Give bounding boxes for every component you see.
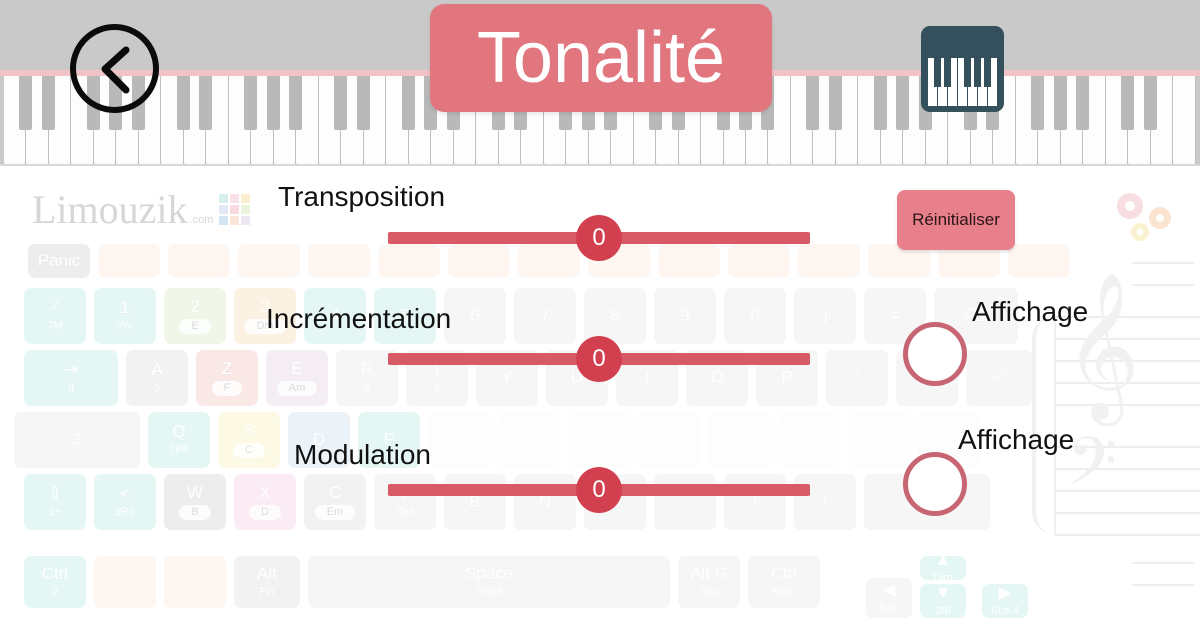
staff-line: [1055, 338, 1200, 340]
keyboard-key[interactable]: L: [708, 412, 770, 468]
keyboard-key-sublabel: 7P5: [169, 444, 189, 457]
piano-icon-black-key: [984, 58, 991, 87]
keyboard-key[interactable]: ^: [826, 350, 888, 406]
modulation-slider[interactable]: 0: [388, 467, 810, 513]
keyboard-key-label: 0: [750, 307, 759, 325]
logo-tile: [219, 194, 228, 203]
piano-black-key[interactable]: [829, 72, 842, 130]
keyboard-key-label: !: [823, 493, 828, 511]
keyboard-key-label: R: [361, 361, 373, 379]
page-title: Tonalité: [430, 4, 772, 112]
keyboard-key-label: ▶: [998, 584, 1011, 602]
piano-black-key[interactable]: [402, 72, 415, 130]
keyboard-key-label: E: [291, 360, 302, 378]
staff-line: [1055, 382, 1200, 384]
piano-white-key[interactable]: [161, 72, 183, 164]
piano-black-key[interactable]: [1121, 72, 1134, 130]
keyboard-key-label: 2: [190, 298, 199, 316]
keyboard-key[interactable]: Ctrl8va--: [748, 556, 820, 608]
keyboard-key-label: J: [595, 431, 604, 449]
keyboard-key-label: H: [523, 431, 535, 449]
piano-black-key[interactable]: [1076, 72, 1089, 130]
piano-black-key[interactable]: [289, 72, 302, 130]
keyboard-key[interactable]: [308, 244, 370, 278]
staff-line: [1055, 490, 1200, 492]
piano-black-key[interactable]: [806, 72, 819, 130]
piano-icon-black-key: [934, 58, 941, 87]
keyboard-key-label: ⇧: [48, 485, 62, 503]
keyboard-key[interactable]: Q7P5: [148, 412, 210, 468]
arrow-key-cluster: ◀8va-▲Dim▼3/6▶Sus 4: [866, 556, 1036, 618]
keyboard-key-sublabel: Am: [277, 381, 318, 396]
logo-tile: [241, 194, 250, 203]
keyboard-key-label: C: [329, 484, 341, 502]
keyboard-key-sublabel: B: [179, 505, 210, 520]
piano-white-key[interactable]: [1016, 72, 1038, 164]
keyboard-key-sublabel: It: [68, 382, 74, 395]
piano-black-key[interactable]: [19, 72, 32, 130]
piano-black-key[interactable]: [244, 72, 257, 130]
piano-black-key[interactable]: [874, 72, 887, 130]
keyboard-key[interactable]: ◀8va-: [866, 578, 912, 618]
staff-line: [1055, 446, 1200, 448]
logo-tile: [230, 205, 239, 214]
keyboard-key[interactable]: SpaceTriad: [308, 556, 670, 608]
piano-white-key[interactable]: [4, 72, 26, 164]
logo-tile: [230, 216, 239, 225]
keyboard-key[interactable]: [98, 244, 160, 278]
piano-black-key[interactable]: [177, 72, 190, 130]
logo-tile: [241, 205, 250, 214]
keyboard-key[interactable]: J: [568, 412, 630, 468]
keyboard-key-label: Alt G: [690, 565, 728, 583]
keyboard-key-label: 7: [540, 307, 549, 325]
keyboard-key-sublabel: 5: [154, 382, 160, 395]
gears-decoration: [1108, 186, 1182, 248]
keyboard-key-label: ▼: [935, 584, 952, 602]
keyboard-row: Ctrl2AltFinSpaceTriadAlt G8vaCtrl8va--: [24, 556, 828, 608]
piano-black-key[interactable]: [334, 72, 347, 130]
logo-tile: [241, 216, 250, 225]
keyboard-key-sublabel: 7m: [117, 320, 132, 333]
keyboard-key-label: M: [802, 431, 816, 449]
keyboard-key[interactable]: ⏎: [966, 350, 1032, 406]
keyboard-key-sublabel: 3/6: [935, 605, 950, 618]
keyboard-key-label: 9: [680, 307, 689, 325]
keyboard-key[interactable]: K: [638, 412, 700, 468]
keyboard-key[interactable]: ▲Dim: [920, 556, 966, 580]
logo-domain: .com: [190, 214, 214, 226]
keyboard-key-label: 3: [72, 431, 81, 449]
piano-white-key[interactable]: [319, 72, 341, 164]
keyboard-key[interactable]: [238, 244, 300, 278]
keyboard-key-label: Z: [222, 360, 232, 378]
keyboard-key-label: =: [890, 307, 900, 325]
keyboard-key-sublabel: 5: [434, 382, 440, 395]
logo-tile: [230, 194, 239, 203]
chevron-left-icon: [96, 44, 134, 94]
keyboard-key-sublabel: 2+: [49, 506, 62, 519]
keyboard-key-label: Ctrl: [42, 565, 68, 583]
keyboard-key-label: Q: [172, 423, 185, 441]
keyboard-key[interactable]: M: [778, 412, 840, 468]
staff-ledger-line: [1132, 262, 1194, 264]
piano-black-key[interactable]: [896, 72, 909, 130]
keyboard-key-label: Ctrl: [771, 565, 797, 583]
keyboard-key[interactable]: Alt G8va: [678, 556, 740, 608]
page-title-text: Tonalité: [477, 22, 725, 94]
transposition-slider[interactable]: 0: [388, 215, 810, 261]
keyboard-key-sublabel: Sus 4: [991, 605, 1019, 618]
keyboard-key[interactable]: Panic: [28, 244, 90, 278]
keyboard-key[interactable]: ²7M: [24, 288, 86, 344]
staff-line: [1055, 512, 1200, 514]
logo-tile-grid: [219, 194, 250, 225]
piano-white-key[interactable]: [791, 72, 813, 164]
keyboard-key-sublabel: Dim: [933, 572, 953, 585]
piano-icon-black-key: [964, 58, 971, 87]
staff-line: [1055, 534, 1200, 536]
keyboard-key-label: ◀: [882, 581, 895, 599]
keyboard-key[interactable]: ▼3/6: [920, 584, 966, 618]
keyboard-key-label: ²: [52, 299, 58, 317]
keyboard-key[interactable]: 17m: [94, 288, 156, 344]
piano-black-key[interactable]: [267, 72, 280, 130]
keyboard-key-label: X: [259, 484, 270, 502]
keyboard-key-sublabel: 2P5: [115, 506, 135, 519]
staff-line: [1055, 404, 1200, 406]
staff-line: [1055, 468, 1200, 470]
piano-white-key[interactable]: [229, 72, 251, 164]
keyboard-key[interactable]: EAm: [266, 350, 328, 406]
incrementation-slider[interactable]: 0: [388, 336, 810, 382]
keyboard-key[interactable]: Ù: [848, 412, 910, 468]
keyboard-key-label: ▲: [935, 551, 952, 569]
keyboard-key[interactable]: [164, 556, 226, 608]
staff-ledger-line: [1132, 584, 1194, 586]
keyboard-key-sublabel: 8va--: [771, 586, 796, 599]
keyboard-key[interactable]: ⇥It: [24, 350, 118, 406]
keyboard-key[interactable]: CEm: [304, 474, 366, 530]
keyboard-key[interactable]: <2P5: [94, 474, 156, 530]
keyboard-key[interactable]: AltFin: [234, 556, 300, 608]
keyboard-key-sublabel: 8va: [700, 586, 718, 599]
keyboard-key[interactable]: WB: [164, 474, 226, 530]
incrementation-slider-knob[interactable]: 0: [576, 336, 622, 382]
piano-icon-keys: [928, 58, 997, 106]
piano-white-key[interactable]: [386, 72, 408, 164]
piano-white-key[interactable]: [1173, 72, 1195, 164]
staff-ledger-line: [1132, 284, 1194, 286]
keyboard-key-label: ⇥: [64, 361, 78, 379]
reset-button[interactable]: Réinitialiser: [897, 190, 1015, 250]
keyboard-key-label: A: [151, 361, 162, 379]
keyboard-key-label: ): [822, 307, 828, 325]
keyboard-row: 3Q7P5SCDFGHJKLMÙ*: [14, 412, 988, 468]
keyboard-key-label: 1: [120, 299, 129, 317]
keyboard-key[interactable]: XD: [234, 474, 296, 530]
piano-icon-white-key: [928, 58, 938, 106]
piano-icon-white-key: [958, 58, 968, 106]
keyboard-key[interactable]: ZF: [196, 350, 258, 406]
keyboard-key-label: S: [243, 422, 254, 440]
keyboard-key-label: W: [187, 484, 203, 502]
affichage-toggle-2[interactable]: [903, 452, 967, 516]
keyboard-key[interactable]: 3: [14, 412, 140, 468]
back-button[interactable]: [70, 24, 159, 113]
keyboard-key-label: Alt: [257, 565, 277, 583]
modulation-label: Modulation: [294, 441, 431, 469]
keyboard-key-label: <: [120, 485, 130, 503]
keyboard-key[interactable]: [168, 244, 230, 278]
piano-black-key[interactable]: [1031, 72, 1044, 130]
keyboard-key-label: G: [452, 431, 465, 449]
keyboard-key-sublabel: F: [212, 381, 243, 396]
keyboard-key-label: ^: [853, 369, 861, 387]
piano-black-key[interactable]: [1144, 72, 1157, 130]
piano-black-key[interactable]: [199, 72, 212, 130]
affichage-label-1: Affichage: [972, 298, 1088, 326]
keyboard-key-label: Ù: [873, 431, 885, 449]
keyboard-key[interactable]: A5: [126, 350, 188, 406]
arrow-updown-stack: ▲Dim▼3/6: [920, 556, 974, 618]
piano-white-key[interactable]: [1106, 72, 1128, 164]
piano-icon-black-key: [944, 58, 951, 87]
staff-line: [1055, 360, 1200, 362]
keyboard-key[interactable]: SC: [218, 412, 280, 468]
keyboard-key-label: Space: [465, 565, 513, 583]
keyboard-key-sublabel: Triad: [477, 586, 502, 599]
keyboard-key-sublabel: Em: [315, 505, 356, 520]
piano-icon-black-key: [974, 58, 981, 87]
piano-black-key[interactable]: [42, 72, 55, 130]
keyboard-key[interactable]: H: [498, 412, 560, 468]
piano-white-key[interactable]: [858, 72, 880, 164]
app-header: Tonalité: [0, 0, 1200, 166]
transposition-label: Transposition: [278, 183, 445, 211]
modulation-slider-knob[interactable]: 0: [576, 467, 622, 513]
keyboard-key[interactable]: ⇧2+: [24, 474, 86, 530]
keyboard-key-label: L: [734, 431, 743, 449]
piano-black-key[interactable]: [357, 72, 370, 130]
keyboard-key-sublabel: 8va-: [878, 602, 899, 615]
keyboard-key-label: Panic: [38, 252, 81, 270]
keyboard-key[interactable]: ▶Sus 4: [982, 584, 1028, 618]
piano-black-key[interactable]: [1054, 72, 1067, 130]
keyboard-key-sublabel: E: [179, 319, 210, 334]
keyboard-key[interactable]: G: [428, 412, 490, 468]
keyboard-key[interactable]: [94, 556, 156, 608]
piano-keyboard-icon[interactable]: [921, 26, 1004, 112]
keyboard-key-label: ⏎: [992, 369, 1006, 387]
keyboard-key[interactable]: 2E: [164, 288, 226, 344]
reset-button-label: Réinitialiser: [912, 210, 1000, 230]
staff-ledger-line: [1132, 562, 1194, 564]
affichage-label-2: Affichage: [958, 426, 1074, 454]
keyboard-key-label: K: [663, 431, 674, 449]
keyboard-key-sublabel: 7M: [47, 320, 62, 333]
limouzik-logo: Limouzik .com: [32, 178, 272, 230]
keyboard-key-label: *: [946, 431, 953, 449]
keyboard-key-sublabel: D: [249, 505, 281, 520]
keyboard-key-sublabel: 2: [52, 586, 58, 599]
keyboard-key-sublabel: Fin: [259, 586, 274, 599]
keyboard-key-sublabel: 8: [364, 382, 370, 395]
transposition-slider-knob[interactable]: 0: [576, 215, 622, 261]
affichage-toggle-1[interactable]: [903, 322, 967, 386]
app-root: Tonalité Panic²7M17m2E3Dm4567890)=⌫⇥ItA5…: [0, 0, 1200, 623]
logo-tile: [219, 216, 228, 225]
logo-tile: [219, 205, 228, 214]
logo-text: Limouzik: [32, 190, 188, 230]
keyboard-key-sublabel: C: [233, 443, 265, 458]
keyboard-key-label: 6: [470, 307, 479, 325]
keyboard-key[interactable]: [1008, 244, 1070, 278]
keyboard-key[interactable]: Ctrl2: [24, 556, 86, 608]
keyboard-key-label: 8: [610, 307, 619, 325]
incrementation-label: Incrémentation: [266, 305, 451, 333]
